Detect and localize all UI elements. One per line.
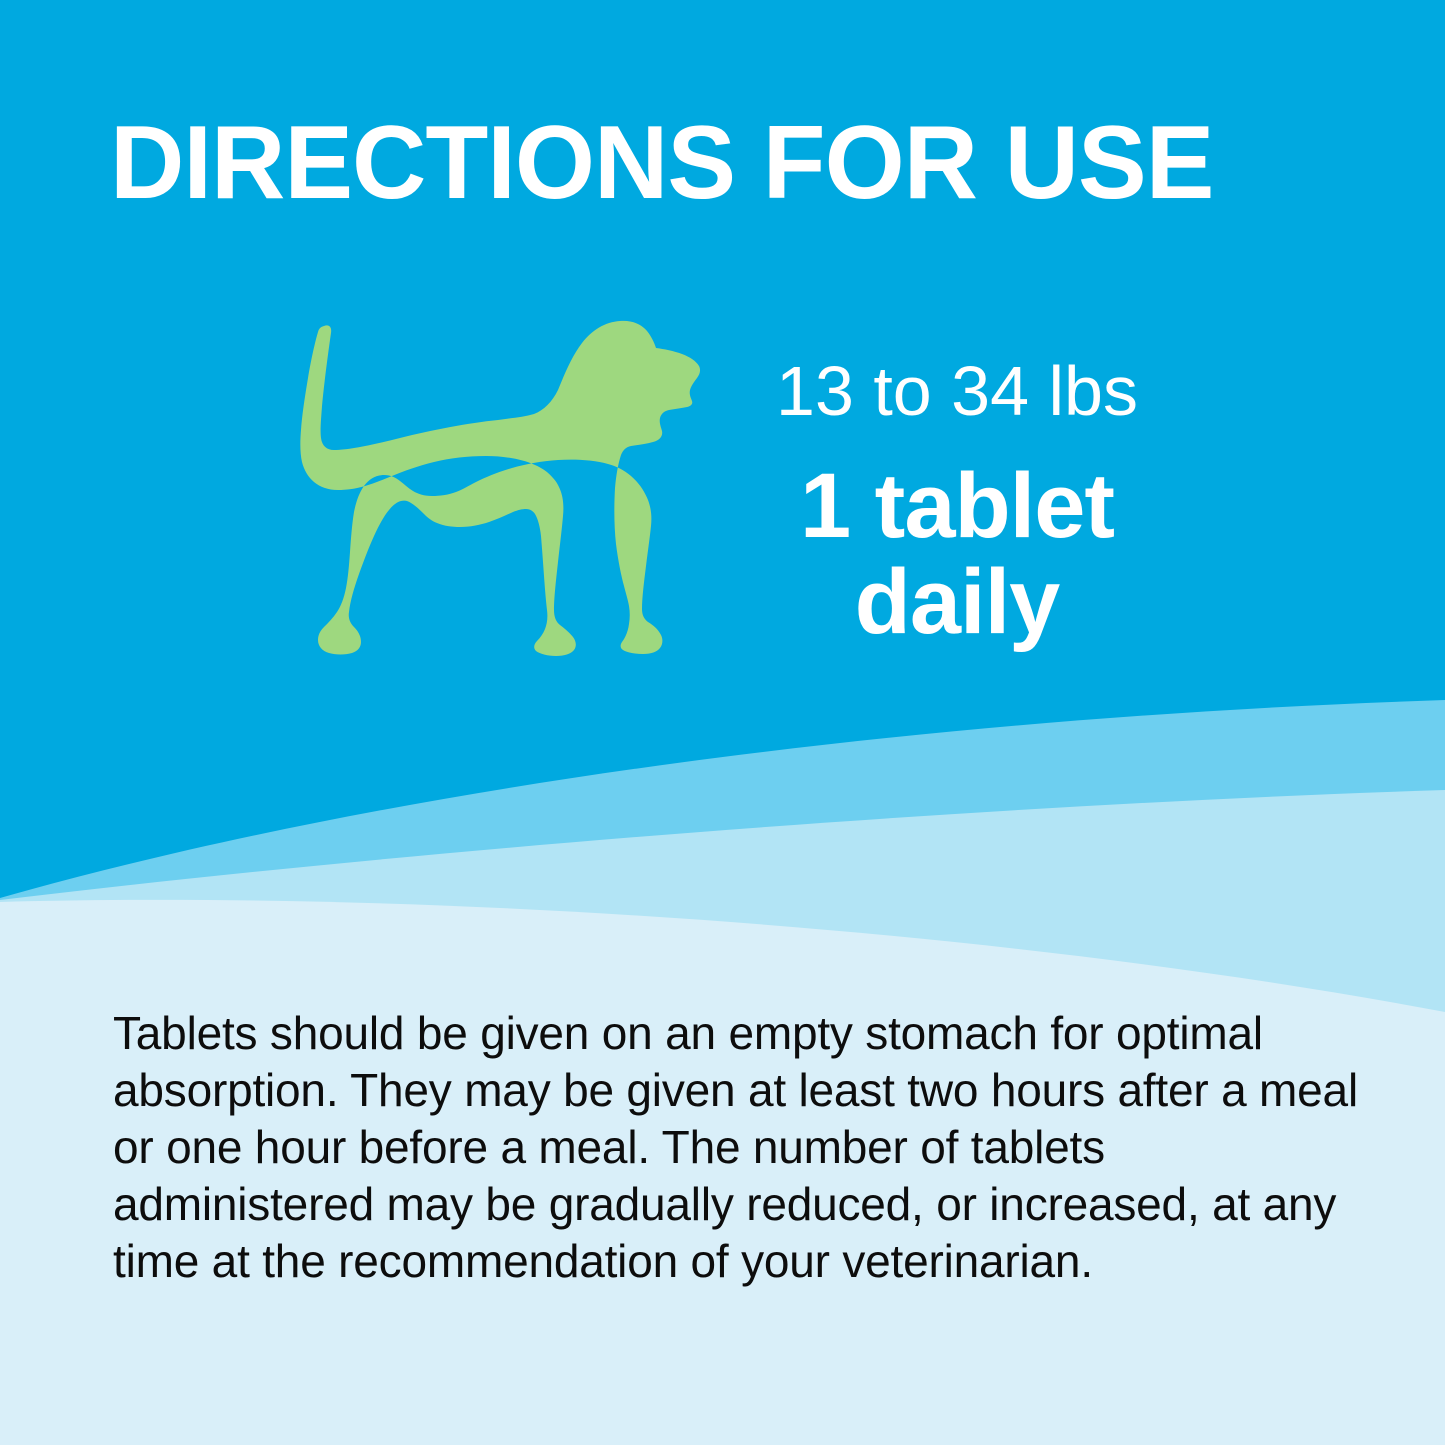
dose-amount-line-1: 1 tablet: [722, 458, 1192, 554]
dose-amount-label: 1 tablet daily: [722, 458, 1192, 650]
instructions-block: Tablets should be given on an empty stom…: [113, 1005, 1358, 1290]
dog-body-path: [300, 321, 700, 656]
dog-silhouette-figure: [272, 310, 712, 670]
page-title: DIRECTIONS FOR USE: [110, 108, 1328, 218]
dose-amount-line-2: daily: [722, 554, 1192, 650]
instructions-paragraph: Tablets should be given on an empty stom…: [113, 1005, 1358, 1290]
weight-range-label: 13 to 34 lbs: [722, 352, 1192, 430]
header: DIRECTIONS FOR USE: [110, 108, 1340, 228]
dosage-block: 13 to 34 lbs 1 tablet daily: [722, 352, 1192, 650]
dog-silhouette-icon: [272, 310, 712, 670]
directions-for-use-poster: DIRECTIONS FOR USE 13 to 34 lbs 1 tablet…: [0, 0, 1445, 1445]
